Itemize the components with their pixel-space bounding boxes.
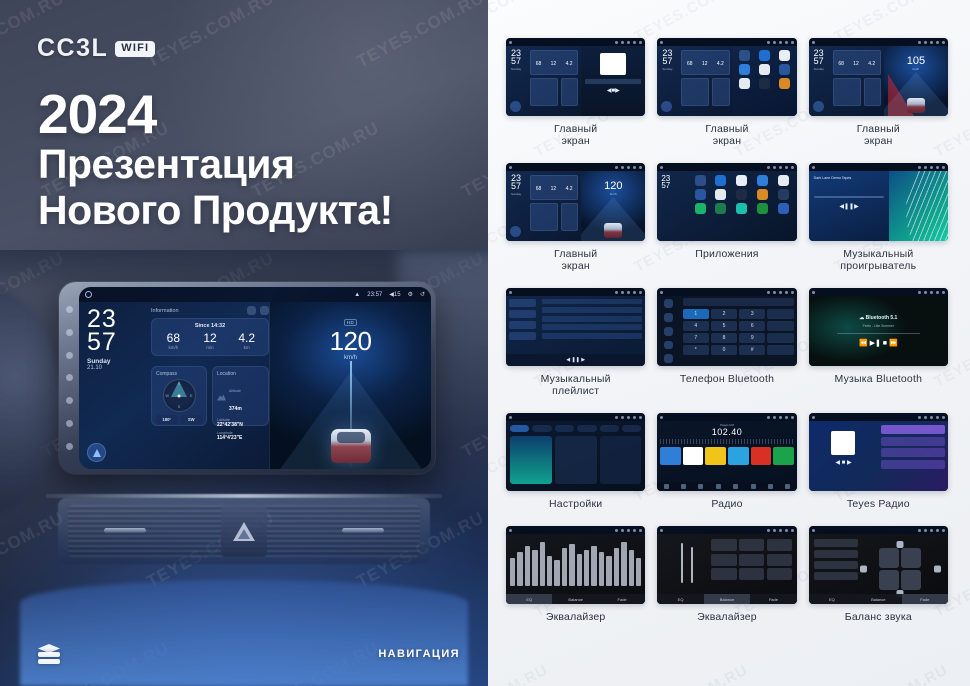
- app-icon: [739, 64, 750, 75]
- back-arrow-icon: [791, 529, 794, 532]
- toolbar-icon: [716, 484, 721, 489]
- thumbnail-image[interactable]: Радио FM 102.40: [657, 413, 796, 491]
- refresh-icon[interactable]: [247, 306, 256, 315]
- logo-wifi-badge: WIFI: [115, 41, 155, 57]
- gallery-item-1[interactable]: 23 57 Sunday 68124.2 ◀■▶ Главныйэкран: [506, 38, 645, 147]
- speed-display: HD 120 km/h: [270, 311, 431, 361]
- station-tile: [683, 447, 704, 465]
- home-icon: [509, 529, 512, 532]
- volume-icon: [627, 41, 630, 44]
- back-arrow-icon[interactable]: ↺: [420, 291, 425, 298]
- media-controls: ◀■▶: [585, 87, 641, 94]
- gallery-item-10[interactable]: Настройки: [506, 413, 645, 510]
- thumb-status-icons: [615, 529, 642, 532]
- contacts-icon: [664, 313, 673, 322]
- radio-frequency: 102.40: [660, 427, 793, 437]
- stat-speed-value: 68: [155, 332, 192, 344]
- gear-icon: [936, 416, 939, 419]
- information-since: Since 14:32: [155, 323, 265, 329]
- thumbnail-image[interactable]: [506, 413, 645, 491]
- thumbnail-caption: Радио: [711, 498, 742, 510]
- location-widget: [561, 203, 578, 231]
- app-icon: [736, 175, 747, 186]
- speed-unit: km/h: [581, 192, 645, 196]
- clock-icon: [924, 291, 927, 294]
- progress-bar: [837, 333, 921, 334]
- preset-button: [814, 561, 858, 569]
- eq-slider: [691, 547, 693, 583]
- toolbar-icon: [751, 484, 756, 489]
- thumbnail-image[interactable]: 123456789*0#: [657, 288, 796, 366]
- clock-icon: [924, 416, 927, 419]
- app-icon: [757, 189, 768, 200]
- wifi-icon: [767, 416, 770, 419]
- station-tile: [705, 447, 726, 465]
- volume-icon: [779, 416, 782, 419]
- thumb-status-icons: [767, 416, 794, 419]
- thumbnail-caption: Главныйэкран: [554, 123, 597, 147]
- tab: [510, 425, 529, 432]
- thumb-status-bar: [506, 288, 645, 296]
- back-arrow-icon: [942, 41, 945, 44]
- compass-dial: N E S W: [163, 379, 196, 412]
- clock-icon: [773, 291, 776, 294]
- back-arrow-icon: [791, 41, 794, 44]
- mountain-icon: [217, 394, 226, 401]
- hardware-menu-icon[interactable]: [66, 306, 73, 313]
- gear-icon: [633, 529, 636, 532]
- volume-icon: [930, 41, 933, 44]
- hardware-power-icon[interactable]: [66, 352, 73, 359]
- gallery-item-5[interactable]: 2357 Приложения: [657, 163, 796, 272]
- dial-key: 8: [711, 333, 737, 343]
- eq-tab: EQ: [506, 594, 552, 604]
- location-widget[interactable]: Location Altitude 374m Latitude 22°4: [212, 366, 269, 426]
- hd-badge: HD: [344, 319, 358, 326]
- gallery-item-14[interactable]: EQBalanceFade Эквалайзер: [657, 526, 796, 623]
- home-widgets: 23 57 Sunday 68124.2: [809, 46, 884, 116]
- clock-icon: [621, 416, 624, 419]
- dial-key: [767, 333, 793, 343]
- thumb-status-icons: [767, 41, 794, 44]
- eq-slider: [584, 550, 589, 586]
- eq-tab: Fade: [599, 594, 645, 604]
- app-drawer: 2357: [657, 171, 796, 241]
- navigation-scene: 120 km/h: [581, 171, 645, 241]
- eq-slider: [577, 554, 582, 586]
- thumbnail-image[interactable]: 2357: [657, 163, 796, 241]
- thumbnail-image[interactable]: EQBalanceFade: [506, 526, 645, 604]
- eq-slider: [621, 542, 626, 586]
- thumbnail-image[interactable]: ◀ ■ ▶: [809, 413, 948, 491]
- gallery-item-11[interactable]: Радио FM 102.40 Радио: [657, 413, 796, 510]
- speaker-rl: [879, 570, 899, 590]
- compass-n: N: [178, 382, 181, 386]
- table-row: [542, 333, 642, 339]
- head-unit-body: 23 57 Sunday 21.10 Information: [79, 302, 431, 469]
- balance-pad-area: [858, 539, 943, 599]
- volume-icon: [779, 529, 782, 532]
- music-player: Dark Lane Demo Tapes ◀❚❚▶: [809, 171, 948, 241]
- back-arrow-icon: [639, 291, 642, 294]
- speaker-rr: [901, 570, 921, 590]
- watermark-text: TEYES.COM.RU: [488, 661, 551, 686]
- latitude-value: 22°42'38"N: [217, 422, 264, 428]
- app-icon: [759, 78, 770, 89]
- speed-unit: km/h: [884, 67, 948, 71]
- volume-icon: [930, 529, 933, 532]
- back-arrow-icon: [791, 416, 794, 419]
- gallery-item-3[interactable]: 23 57 Sunday 68124.2 105 km/h Главныйэкр…: [809, 38, 948, 147]
- information-widget: 68124.2: [833, 50, 881, 75]
- dial-key: [767, 345, 793, 355]
- hero-panel: TEYES.COM.RUTEYES.COM.RUTEYES.COM.RUTEYE…: [0, 0, 488, 686]
- eq-tabs: EQBalanceFade: [809, 594, 948, 604]
- clock-widget: 2357: [661, 175, 687, 237]
- thumb-status-icons: [767, 291, 794, 294]
- compass-widget[interactable]: Compass N E S W 180° SW: [151, 366, 207, 426]
- thumbnail-image[interactable]: 23 57 Sunday 68124.2 120 km/h: [506, 163, 645, 241]
- home-icon[interactable]: [85, 291, 92, 298]
- clock-icon: [924, 529, 927, 532]
- compass-s: S: [178, 405, 180, 409]
- list-item: [881, 448, 945, 457]
- station-tile: [773, 447, 794, 465]
- thumb-status-icons: [615, 291, 642, 294]
- home-icon: [812, 291, 815, 294]
- thumbnail-caption: Эквалайзер: [697, 611, 757, 623]
- preset-button: [814, 539, 858, 547]
- clock-icon: [773, 41, 776, 44]
- thumbnail-caption: Музыка Bluetooth: [835, 373, 923, 385]
- location-title: Location: [217, 371, 264, 377]
- thumbnail-caption: Музыкальныйпроигрыватель: [840, 248, 916, 272]
- app-icon: [778, 175, 789, 186]
- home-icon: [509, 41, 512, 44]
- more-card: [600, 436, 642, 484]
- bluetooth-phone: 123456789*0#: [657, 296, 796, 366]
- thumbnail-image[interactable]: 23 57 Sunday 68124.2 ◀■▶: [506, 38, 645, 116]
- clock-date: 21.10: [87, 365, 117, 371]
- thumb-status-icons: [767, 529, 794, 532]
- eq-slider: [636, 558, 641, 586]
- hardware-next-icon[interactable]: [66, 443, 73, 450]
- car-dashboard-photo: ▲ 23:57 ◀15 ⚙ ↺ 23 57 Sunday 21.10: [0, 250, 488, 686]
- speed-unit: km/h: [270, 355, 431, 361]
- thumb-status-icons: [767, 166, 794, 169]
- playlist-screen: ◀ ❚❚ ▶: [506, 296, 645, 366]
- progress-bar: [814, 196, 885, 198]
- volume-icon: [627, 291, 630, 294]
- home-icon: [509, 416, 512, 419]
- wifi-icon[interactable]: ▲: [354, 292, 360, 298]
- app-icon: [778, 203, 789, 214]
- hardware-back-icon[interactable]: [66, 397, 73, 404]
- head-unit-screen[interactable]: ▲ 23:57 ◀15 ⚙ ↺ 23 57 Sunday 21.10: [79, 287, 431, 469]
- car-3d-model: [907, 98, 925, 113]
- gallery-item-8[interactable]: 123456789*0# Телефон Bluetooth: [657, 288, 796, 397]
- home-icon: [660, 166, 663, 169]
- back-arrow-icon: [639, 41, 642, 44]
- preset-grid: [711, 539, 791, 599]
- gear-icon: [936, 291, 939, 294]
- speed-value: 105: [884, 46, 948, 67]
- app-icon: [715, 175, 726, 186]
- tab: [600, 425, 619, 432]
- dial-key: [767, 309, 793, 319]
- tab: [577, 425, 596, 432]
- gallery-item-7[interactable]: ◀ ❚❚ ▶ Музыкальныйплейлист: [506, 288, 645, 397]
- settings-cards: [510, 436, 641, 484]
- thumbnail-image[interactable]: ◀ ❚❚ ▶: [506, 288, 645, 366]
- dial-key: 0: [711, 345, 737, 355]
- information-stats: 68 km/h 12 min 4.2 km: [155, 332, 265, 350]
- headline-line-2: Нового Продукта!: [38, 188, 393, 234]
- headline: 2024 Презентация Нового Продукта!: [38, 86, 393, 234]
- arrow-right-icon: [934, 566, 941, 573]
- wifi-icon: [615, 529, 618, 532]
- app-icon: [739, 78, 750, 89]
- layers-icon: [38, 644, 60, 664]
- now-playing: ◀ ■ ▶: [809, 421, 879, 491]
- compass-needle: [178, 394, 181, 397]
- preset-button: [739, 554, 764, 566]
- preset-button: [739, 539, 764, 551]
- toolbar-icon: [664, 484, 669, 489]
- gallery-item-2[interactable]: 23 57 Sunday 68124.2 Главныйэкран: [657, 38, 796, 147]
- gear-icon: [633, 416, 636, 419]
- compass-heading: 180°: [156, 415, 178, 424]
- hardware-home-icon[interactable]: [66, 374, 73, 381]
- navigation-fab: [813, 101, 824, 112]
- dial-key: [767, 321, 793, 331]
- home-icon: [660, 416, 663, 419]
- compass-e: E: [190, 394, 192, 398]
- gallery-item-4[interactable]: 23 57 Sunday 68124.2 120 km/h Главныйэкр…: [506, 163, 645, 272]
- status-bar-right: ▲ 23:57 ◀15 ⚙ ↺: [354, 291, 425, 298]
- app-icon: [779, 50, 790, 61]
- speaker-fr: [901, 548, 921, 568]
- thumbnail-image[interactable]: ☁ Bluetooth 5.1 Feels - Like Summer ⏪ ▶❚…: [809, 288, 948, 366]
- track-title: Dark Lane Demo Tapes: [814, 176, 885, 180]
- clock-icon: [773, 416, 776, 419]
- gallery-item-15[interactable]: EQBalanceFade Баланс звука: [809, 526, 948, 623]
- eq-slider: [606, 556, 611, 586]
- gallery-item-6[interactable]: Dark Lane Demo Tapes ◀❚❚▶ Музыкальныйпро…: [809, 163, 948, 272]
- information-header: Information: [151, 306, 269, 315]
- tab: [622, 425, 641, 432]
- clock-icon: [924, 166, 927, 169]
- volume-icon: [779, 291, 782, 294]
- gear-icon: [936, 41, 939, 44]
- preset-button: [711, 554, 736, 566]
- sound-balance-screen: EQBalanceFade: [809, 534, 948, 604]
- thumb-status-icons: [918, 529, 945, 532]
- thumbnail-image[interactable]: EQBalanceFade: [809, 526, 948, 604]
- settings-tabs: [510, 425, 641, 432]
- clock-widget[interactable]: 23 57 Sunday 21.10: [87, 308, 117, 371]
- home-widgets-area: 23 57 Sunday 21.10 Information: [79, 302, 269, 469]
- volume-icon: [779, 166, 782, 169]
- list-item: [881, 425, 945, 434]
- preset-button: [739, 568, 764, 580]
- thumbnail-caption: Эквалайзер: [546, 611, 606, 623]
- toolbar-icon: [733, 484, 738, 489]
- thumb-status-bar: [809, 38, 948, 46]
- app-icon: [736, 189, 747, 200]
- home-widgets: 23 57 Sunday 68124.2: [506, 171, 581, 241]
- dial-key: 9: [739, 333, 765, 343]
- preset-button: [767, 568, 792, 580]
- thumbnail-caption: Teyes Радио: [847, 498, 910, 510]
- toolbar-icon: [681, 484, 686, 489]
- watermark-text: TEYES.COM.RU: [831, 661, 950, 686]
- gear-icon: [936, 529, 939, 532]
- back-arrow-icon: [791, 291, 794, 294]
- gear-icon: [785, 166, 788, 169]
- app-icon: [759, 64, 770, 75]
- home-icon: [812, 529, 815, 532]
- wifi-icon: [767, 41, 770, 44]
- thumb-status-bar: [809, 288, 948, 296]
- history-icon: [664, 341, 673, 350]
- volume-indicator[interactable]: ◀15: [389, 291, 400, 298]
- home-icon: [660, 41, 663, 44]
- eq-slider: [525, 546, 530, 586]
- head-unit-bezel: ▲ 23:57 ◀15 ⚙ ↺ 23 57 Sunday 21.10: [59, 282, 435, 474]
- wifi-icon: [615, 166, 618, 169]
- thumb-status-icons: [918, 41, 945, 44]
- head-unit-side-buttons[interactable]: [62, 292, 77, 464]
- stat-time-unit: min: [192, 345, 229, 350]
- preset-button: [814, 572, 858, 580]
- headline-line-1: Презентация: [38, 142, 393, 188]
- wifi-icon: [767, 166, 770, 169]
- information-widget: 68124.2: [530, 50, 578, 75]
- information-actions[interactable]: [247, 306, 269, 315]
- app-icon: [715, 203, 726, 214]
- stat-distance: 4.2 km: [228, 332, 265, 350]
- gallery-item-9[interactable]: ☁ Bluetooth 5.1 Feels - Like Summer ⏪ ▶❚…: [809, 288, 948, 397]
- gear-icon: [785, 416, 788, 419]
- album-art: [600, 53, 626, 75]
- location-longitude: Longitude 114°4'23"E: [217, 431, 264, 441]
- thumbnail-image[interactable]: 23 57 Sunday 68124.2: [657, 38, 796, 116]
- dial-key: 3: [739, 309, 765, 319]
- gallery-item-12[interactable]: ◀ ■ ▶ Teyes Радио: [809, 413, 948, 510]
- search-icon: [664, 327, 673, 336]
- clock-icon: [773, 166, 776, 169]
- wifi-icon: [615, 41, 618, 44]
- eq-slider: [569, 544, 574, 586]
- back-arrow-icon: [942, 166, 945, 169]
- home-icon: [660, 291, 663, 294]
- dial-key: #: [739, 345, 765, 355]
- gear-icon: [785, 529, 788, 532]
- equalizer-screen: EQBalanceFade: [506, 534, 645, 604]
- car-3d-model: [604, 223, 622, 238]
- hazard-light-button[interactable]: [221, 505, 267, 557]
- settings-screen: [506, 421, 645, 491]
- thumbnail-image[interactable]: EQBalanceFade: [657, 526, 796, 604]
- hardware-volume-icon[interactable]: [66, 329, 73, 336]
- app-icon: [757, 175, 768, 186]
- information-widget[interactable]: Information Since 14:32 68: [151, 306, 269, 356]
- vent-slot-left: [104, 528, 146, 533]
- thumb-status-bar: [657, 288, 796, 296]
- navigation-fab[interactable]: [87, 443, 106, 462]
- thumb-status-bar: [506, 163, 645, 171]
- thumb-status-icons: [615, 416, 642, 419]
- thumb-status-icons: [615, 41, 642, 44]
- thumbnail-image[interactable]: Dark Lane Demo Tapes ◀❚❚▶: [809, 163, 948, 241]
- expand-icon[interactable]: [260, 306, 269, 315]
- clock-icon: [924, 41, 927, 44]
- back-arrow-icon: [942, 529, 945, 532]
- speed-value: 120: [581, 171, 645, 192]
- eq-slider: [599, 552, 604, 586]
- eq-slider: [681, 543, 683, 583]
- volume-icon: [930, 416, 933, 419]
- mini-player-bar: ◀ ❚❚ ▶: [506, 354, 645, 366]
- app-icon: [779, 78, 790, 89]
- app-icon: [739, 50, 750, 61]
- compass-w: W: [166, 394, 169, 398]
- clock-minutes: 57: [87, 331, 117, 354]
- navigation-scene[interactable]: HD 120 km/h: [269, 302, 431, 469]
- volume-icon: [627, 416, 630, 419]
- eq-tab: EQ: [809, 594, 855, 604]
- compass-direction: SW: [181, 415, 203, 424]
- gear-icon: [633, 41, 636, 44]
- wifi-icon: [918, 166, 921, 169]
- screenshot-gallery: TEYES.COM.RUTEYES.COM.RUTEYES.COM.RUTEYE…: [488, 0, 970, 686]
- steering-wheel: [0, 286, 60, 516]
- back-arrow-icon: [791, 166, 794, 169]
- gear-icon: [936, 166, 939, 169]
- wifi-icon: [767, 529, 770, 532]
- gallery-item-13[interactable]: EQBalanceFade Эквалайзер: [506, 526, 645, 623]
- watermark-text: TEYES.COM.RU: [459, 118, 488, 202]
- app-icon: [779, 64, 790, 75]
- thumbnail-image[interactable]: 23 57 Sunday 68124.2 105 km/h: [809, 38, 948, 116]
- app-icon: [695, 175, 706, 186]
- toolbar-icon: [698, 484, 703, 489]
- car-3d-model: [331, 429, 371, 463]
- thumb-status-bar: [657, 413, 796, 421]
- preset-button: [767, 539, 792, 551]
- toolbar-icon: [768, 484, 773, 489]
- wifi-icon: [767, 291, 770, 294]
- gear-icon[interactable]: ⚙: [408, 291, 413, 298]
- arrow-left-icon: [860, 566, 867, 573]
- wifi-icon: [615, 416, 618, 419]
- gear-icon: [785, 41, 788, 44]
- level-sliders: [662, 539, 711, 583]
- stat-speed-unit: km/h: [155, 345, 192, 350]
- location-widget: [712, 78, 729, 106]
- eq-tabs: EQBalanceFade: [657, 594, 796, 604]
- player-controls: ◀ ■ ▶: [813, 459, 875, 466]
- list-item: [509, 299, 536, 307]
- dial-key: 1: [683, 309, 709, 319]
- table-row: [542, 307, 642, 313]
- eq-slider: [629, 550, 634, 586]
- volume-value: 15: [394, 292, 401, 298]
- home-widgets: 23 57 Sunday 68124.2: [506, 46, 581, 116]
- back-arrow-icon: [639, 166, 642, 169]
- hardware-prev-icon[interactable]: [66, 420, 73, 427]
